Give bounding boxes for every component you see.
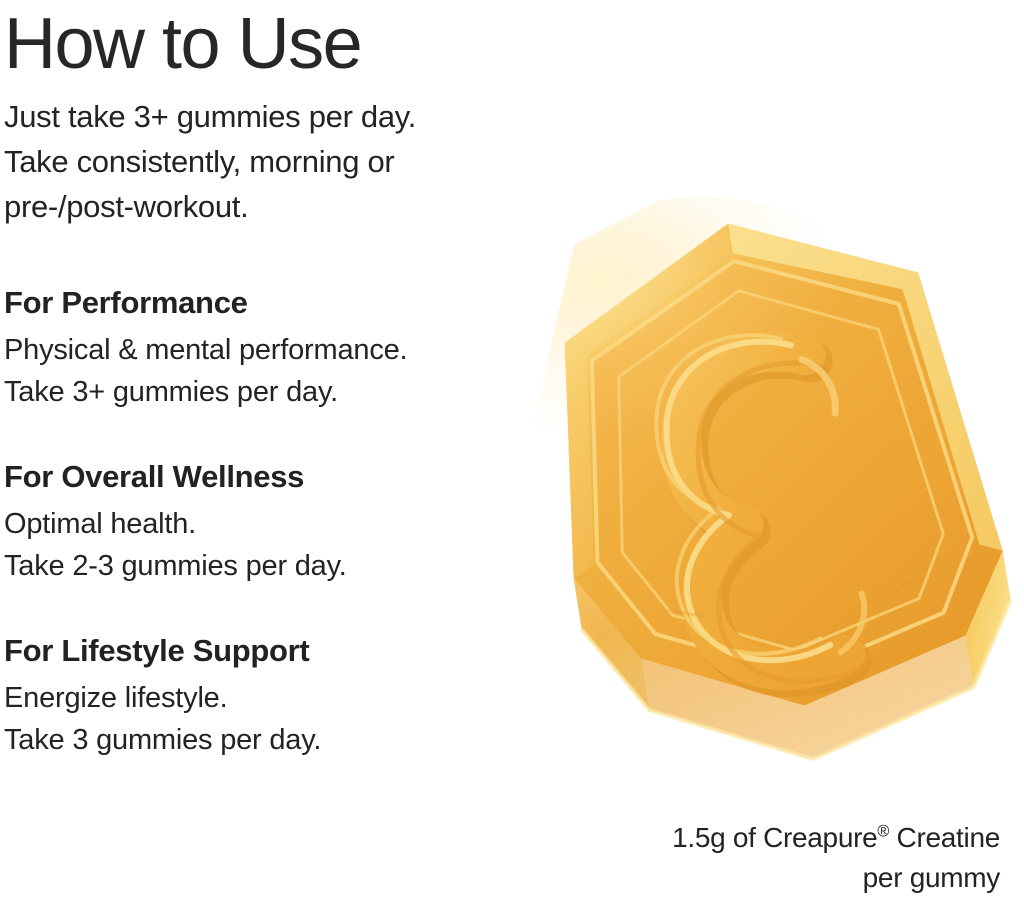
how-to-use-panel: How to Use Just take 3+ gummies per day.…: [0, 0, 1024, 905]
gummy-product-image: [470, 120, 1024, 800]
product-caption: 1.5g of Creapure® Creatine per gummy: [530, 818, 1000, 898]
registered-trademark-icon: ®: [877, 823, 889, 841]
gummy-illustration: [470, 120, 1024, 800]
page-title: How to Use: [4, 0, 564, 86]
caption-line-2: per gummy: [530, 858, 1000, 898]
gummy-body: [470, 156, 1024, 800]
caption-dose-text: 1.5g of Creapure: [672, 822, 877, 853]
caption-line-1: 1.5g of Creapure® Creatine: [530, 818, 1000, 858]
caption-ingredient-text: Creatine: [889, 822, 1000, 853]
